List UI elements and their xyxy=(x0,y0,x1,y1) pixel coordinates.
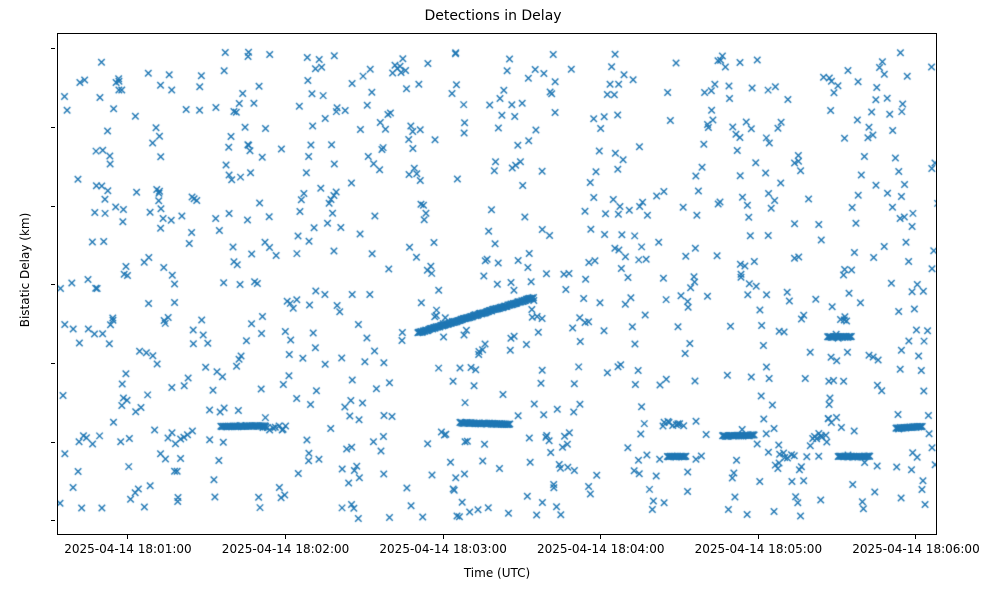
x-tick-mark xyxy=(443,535,444,539)
x-tick-mark xyxy=(285,535,286,539)
page-title: Detections in Delay xyxy=(0,8,986,25)
y-tick-mark xyxy=(51,520,55,521)
y-tick-mark xyxy=(51,442,55,443)
x-tick-label: 2025-04-14 18:04:00 xyxy=(537,542,664,556)
x-tick-mark xyxy=(758,535,759,539)
y-tick-mark xyxy=(51,284,55,285)
y-axis-label: Bistatic Delay (km) xyxy=(18,19,32,521)
y-tick-mark xyxy=(51,363,55,364)
x-tick-mark xyxy=(600,535,601,539)
x-tick-mark xyxy=(915,535,916,539)
y-tick-mark xyxy=(51,48,55,49)
y-tick-mark xyxy=(51,206,55,207)
x-tick-label: 2025-04-14 18:05:00 xyxy=(695,542,822,556)
scatter-plot-canvas xyxy=(58,34,937,535)
x-tick-mark xyxy=(127,535,128,539)
y-tick-mark xyxy=(51,127,55,128)
x-tick-label: 2025-04-14 18:06:00 xyxy=(852,542,979,556)
x-axis-label: Time (UTC) xyxy=(57,566,937,580)
x-tick-label: 2025-04-14 18:01:00 xyxy=(64,542,191,556)
x-tick-label: 2025-04-14 18:02:00 xyxy=(222,542,349,556)
matplotlib-figure: Detections in Delay Bistatic Delay (km) … xyxy=(0,0,986,590)
x-tick-label: 2025-04-14 18:03:00 xyxy=(379,542,506,556)
plot-axes-area xyxy=(57,33,937,535)
